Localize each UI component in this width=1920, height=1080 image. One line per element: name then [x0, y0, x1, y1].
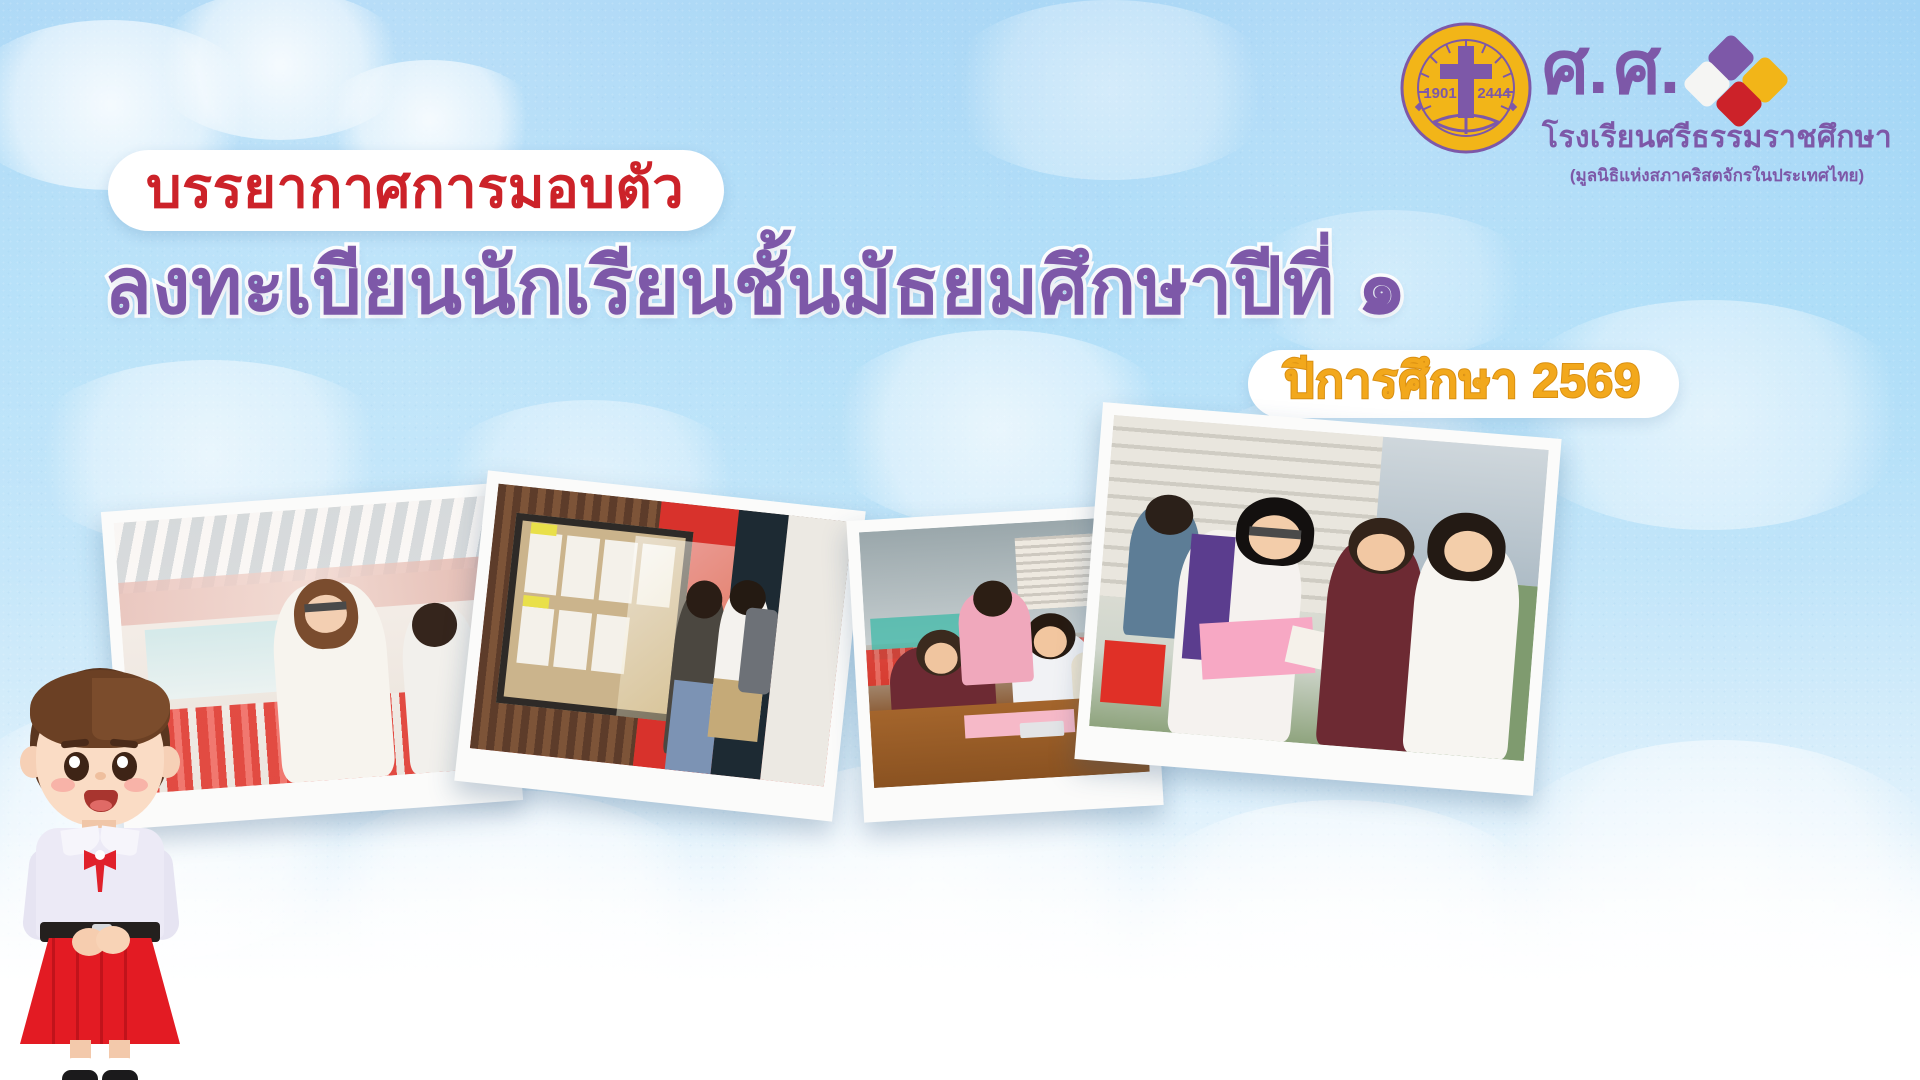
main-title: ลงทะเบียนนักเรียนชั้นมัธยมศึกษาปีที่ ๑: [104, 240, 1407, 332]
mascot-shoe-left: [62, 1070, 98, 1080]
mascot-skirt-pleat: [76, 938, 79, 1044]
logo-abbrev-first: ศ.: [1542, 38, 1608, 99]
school-seal-icon: 1901 2444: [1400, 22, 1532, 154]
logo-wordmark: ศ. ศ. โรงเรียนศรีธรรมราชศึกษา (มูลนิธิแห…: [1542, 22, 1892, 189]
logo-abbrev-second: ศ.: [1614, 38, 1680, 99]
mascot-nose: [95, 772, 106, 780]
mascot-tongue: [90, 800, 112, 811]
mascot-hand-right: [96, 926, 130, 954]
mascot-skirt-pleat: [124, 938, 127, 1044]
mascot-cheek-left: [51, 778, 75, 792]
bottom-white-fade: [0, 830, 1920, 1080]
mascot-eye-glint-right: [117, 756, 128, 768]
diamond-cluster-icon: [1689, 40, 1785, 120]
mascot-bow-knot: [95, 850, 105, 860]
academic-year-pill: ปีการศึกษา 2569: [1248, 350, 1679, 418]
student-mascot: [0, 660, 204, 1080]
photo-document-check: [1074, 402, 1561, 796]
mascot-skirt-pleat: [100, 938, 103, 1044]
logo-foundation-line: (มูลนิธิแห่งสภาคริสตจักรในประเทศไทย): [1542, 162, 1892, 189]
mascot-skirt-pleat: [52, 938, 55, 1044]
logo-school-name: โรงเรียนศรีธรรมราชศึกษา: [1542, 114, 1892, 161]
svg-text:1901: 1901: [1423, 85, 1456, 102]
mascot-shoe-right: [102, 1070, 138, 1080]
mascot-eye-glint-left: [69, 756, 80, 768]
mascot-cheek-right: [124, 778, 148, 792]
eyebrow-pill: บรรยากาศการมอบตัว: [108, 150, 724, 231]
academic-year-text: ปีการศึกษา 2569: [1284, 357, 1641, 407]
photo-announcement-board: [454, 470, 865, 821]
svg-text:2444: 2444: [1477, 85, 1511, 102]
school-logo-lockup: 1901 2444 ศ. ศ. โรงเรียนศรีธรรมราชศึกษา …: [1400, 22, 1892, 189]
eyebrow-text: บรรยากาศการมอบตัว: [146, 159, 684, 218]
